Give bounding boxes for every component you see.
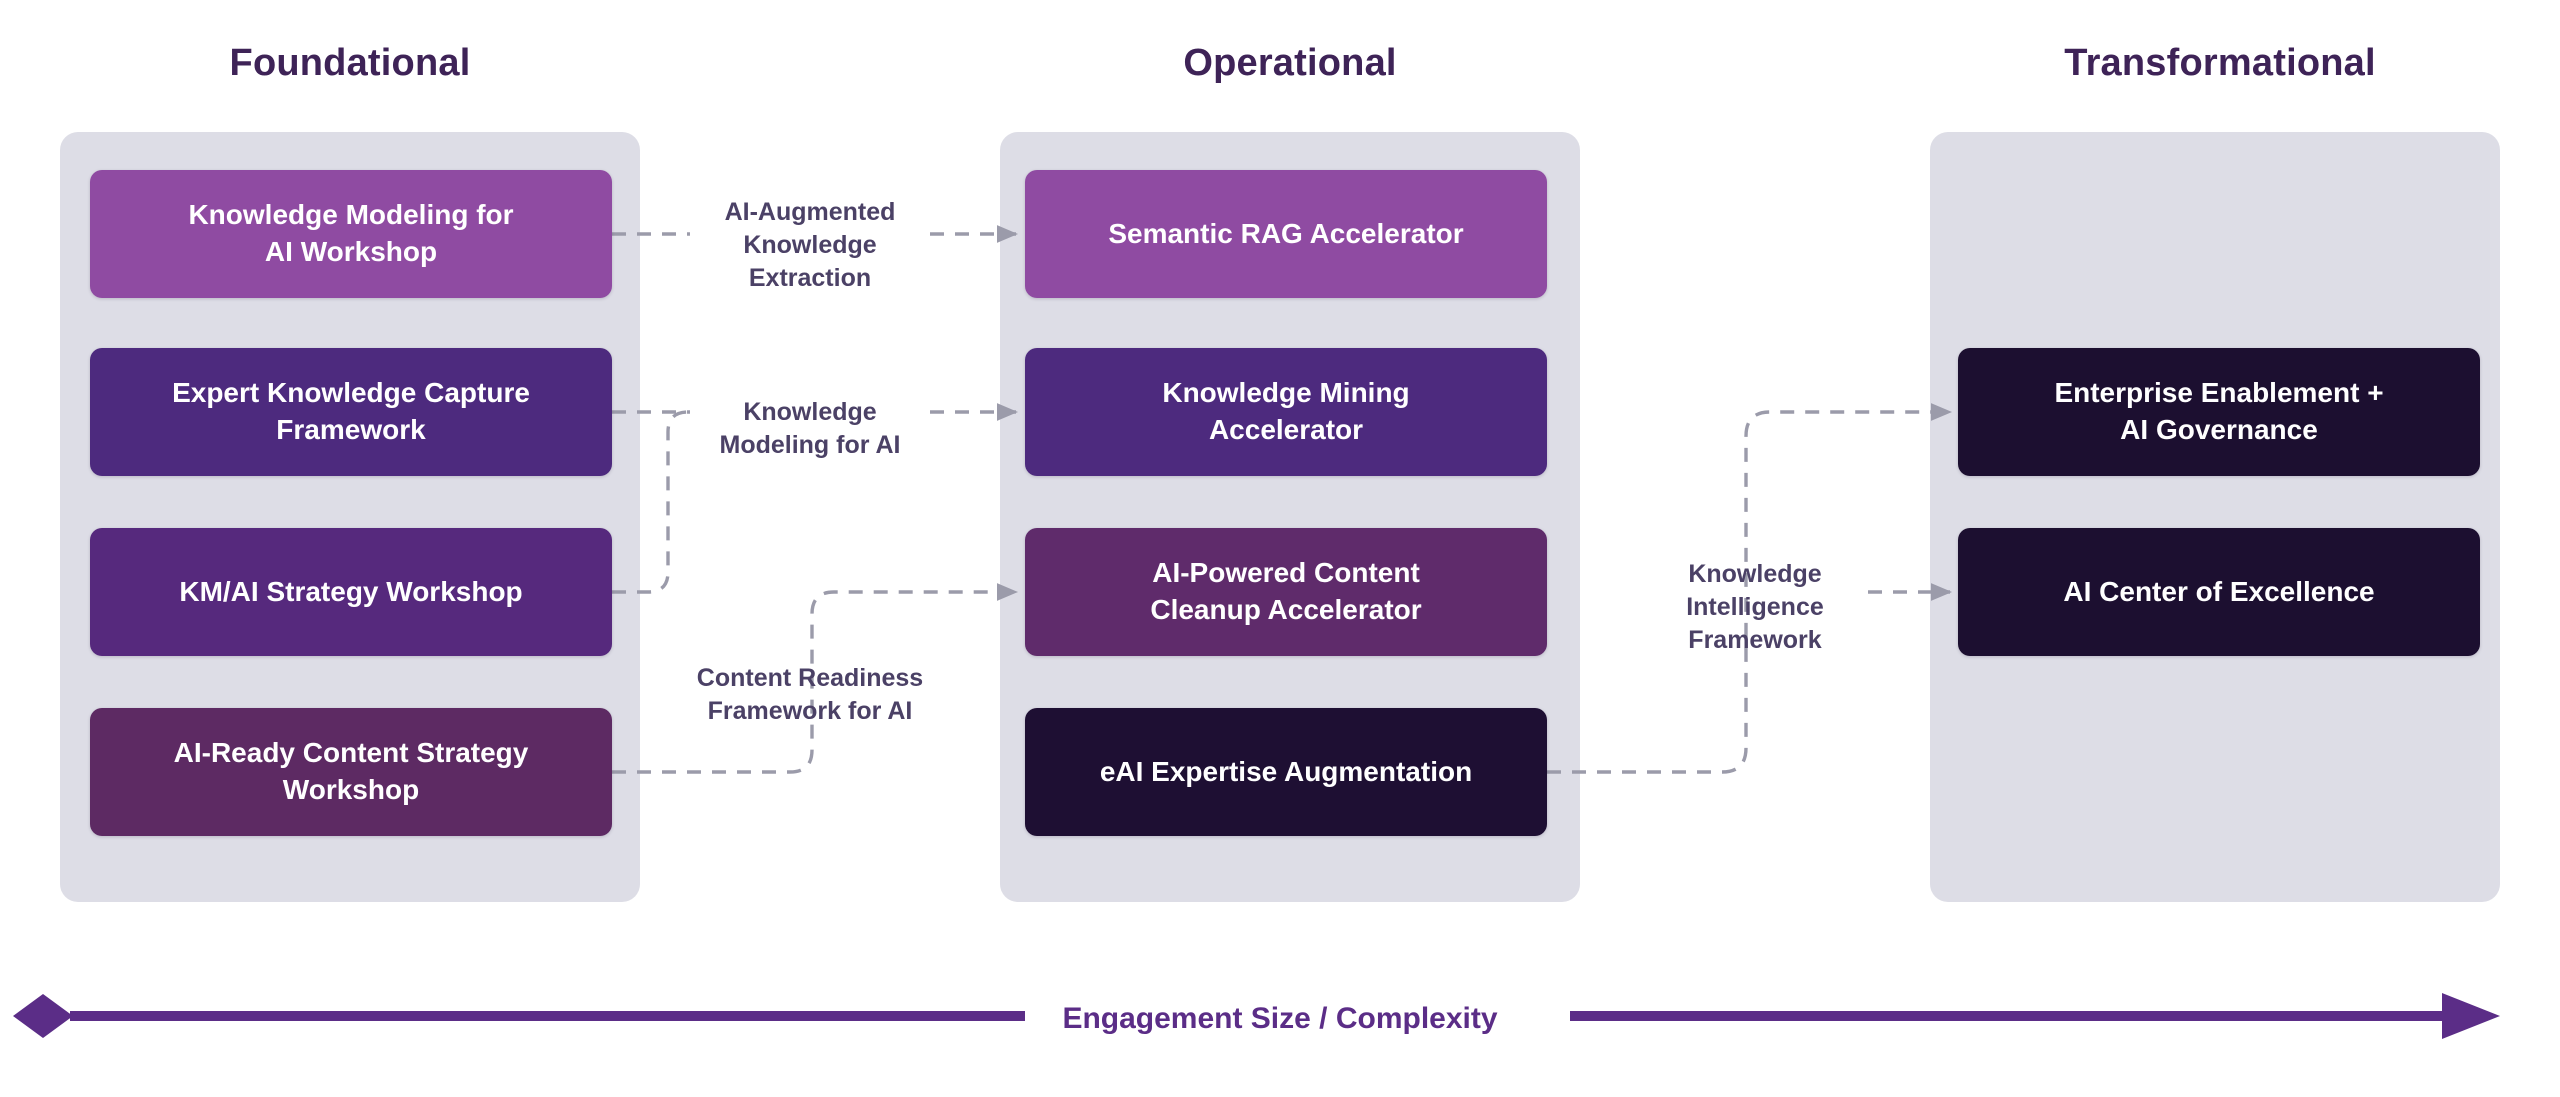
axis-line-right (1570, 1011, 2450, 1021)
column-heading-foundational: Foundational (60, 42, 640, 85)
column-heading-operational: Operational (1000, 42, 1580, 85)
service-box-eai-expertise-augmentation[interactable]: eAI Expertise Augmentation (1025, 708, 1547, 836)
service-box-ai-ready-content-strategy-workshop[interactable]: AI-Ready Content Strategy Workshop (90, 708, 612, 836)
maturity-diagram: Foundational Operational Transformationa… (0, 0, 2560, 1097)
service-box-enterprise-enablement-ai-governance[interactable]: Enterprise Enablement + AI Governance (1958, 348, 2480, 476)
axis-diamond-cap (13, 994, 73, 1038)
axis-arrow-cap (2442, 993, 2500, 1039)
service-box-knowledge-modeling-for-ai-workshop[interactable]: Knowledge Modeling for AI Workshop (90, 170, 612, 298)
axis-line-left (70, 1011, 1025, 1021)
column-panel-transformational (1930, 132, 2500, 902)
edge-label-knowledge-modeling-for-ai: Knowledge Modeling for AI (680, 396, 940, 462)
axis-caption: Engagement Size / Complexity (1020, 1002, 1540, 1036)
service-box-km-ai-strategy-workshop[interactable]: KM/AI Strategy Workshop (90, 528, 612, 656)
service-box-expert-knowledge-capture-framework[interactable]: Expert Knowledge Capture Framework (90, 348, 612, 476)
service-box-knowledge-mining-accelerator[interactable]: Knowledge Mining Accelerator (1025, 348, 1547, 476)
service-box-ai-center-of-excellence[interactable]: AI Center of Excellence (1958, 528, 2480, 656)
edge-label-ai-augmented-knowledge-extraction: AI-Augmented Knowledge Extraction (680, 196, 940, 295)
service-box-ai-powered-content-cleanup-accelerator[interactable]: AI-Powered Content Cleanup Accelerator (1025, 528, 1547, 656)
edge-label-knowledge-intelligence-framework: Knowledge Intelligence Framework (1640, 558, 1870, 657)
edge-label-content-readiness-framework-for-ai: Content Readiness Framework for AI (660, 662, 960, 728)
service-box-semantic-rag-accelerator[interactable]: Semantic RAG Accelerator (1025, 170, 1547, 298)
column-heading-transformational: Transformational (1930, 42, 2510, 85)
